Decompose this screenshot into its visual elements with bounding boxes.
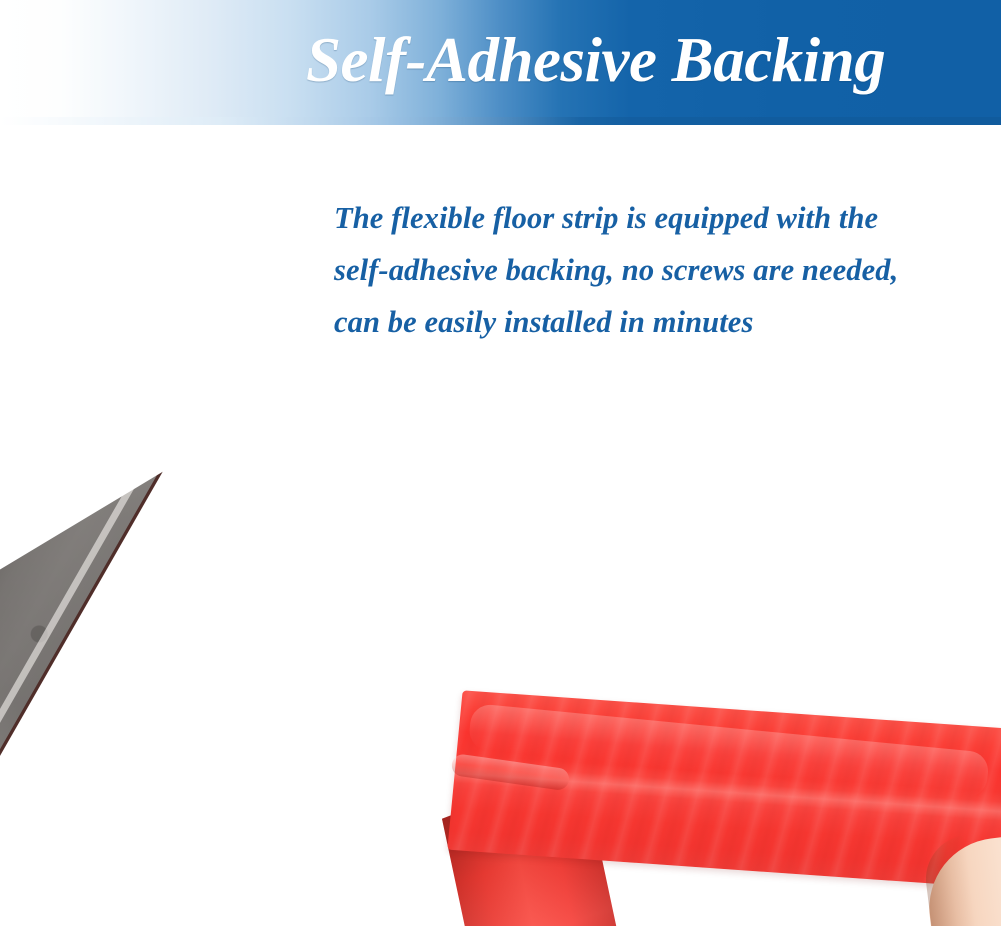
header-banner: Self-Adhesive Backing: [0, 0, 1001, 125]
page-title: Self-Adhesive Backing: [306, 12, 996, 108]
header-banner-underline: [0, 117, 1001, 125]
description-line-3: can be easily installed in minutes: [334, 296, 994, 348]
product-infographic-page: Self-Adhesive Backing The flex: [0, 0, 1001, 926]
description-line-1: The flexible floor strip is equipped wit…: [334, 192, 994, 244]
description-block: The flexible floor strip is equipped wit…: [334, 192, 994, 348]
description-line-2: self-adhesive backing, no screws are nee…: [334, 244, 994, 296]
